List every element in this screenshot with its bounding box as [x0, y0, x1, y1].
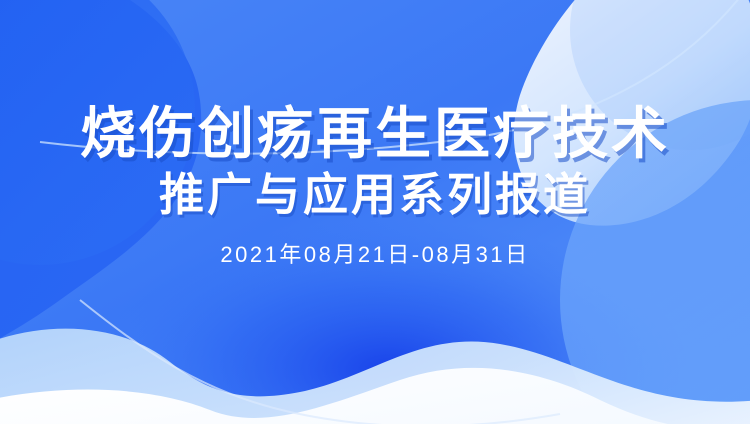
banner-subhead: 推广与应用系列报道	[159, 170, 591, 220]
promo-banner: 烧伤创疡再生医疗技术 推广与应用系列报道 2021年08月21日-08月31日	[0, 0, 750, 424]
banner-headline: 烧伤创疡再生医疗技术	[80, 104, 670, 164]
banner-text-stack: 烧伤创疡再生医疗技术 推广与应用系列报道 2021年08月21日-08月31日	[0, 0, 750, 424]
banner-date-range: 2021年08月21日-08月31日	[220, 242, 529, 268]
